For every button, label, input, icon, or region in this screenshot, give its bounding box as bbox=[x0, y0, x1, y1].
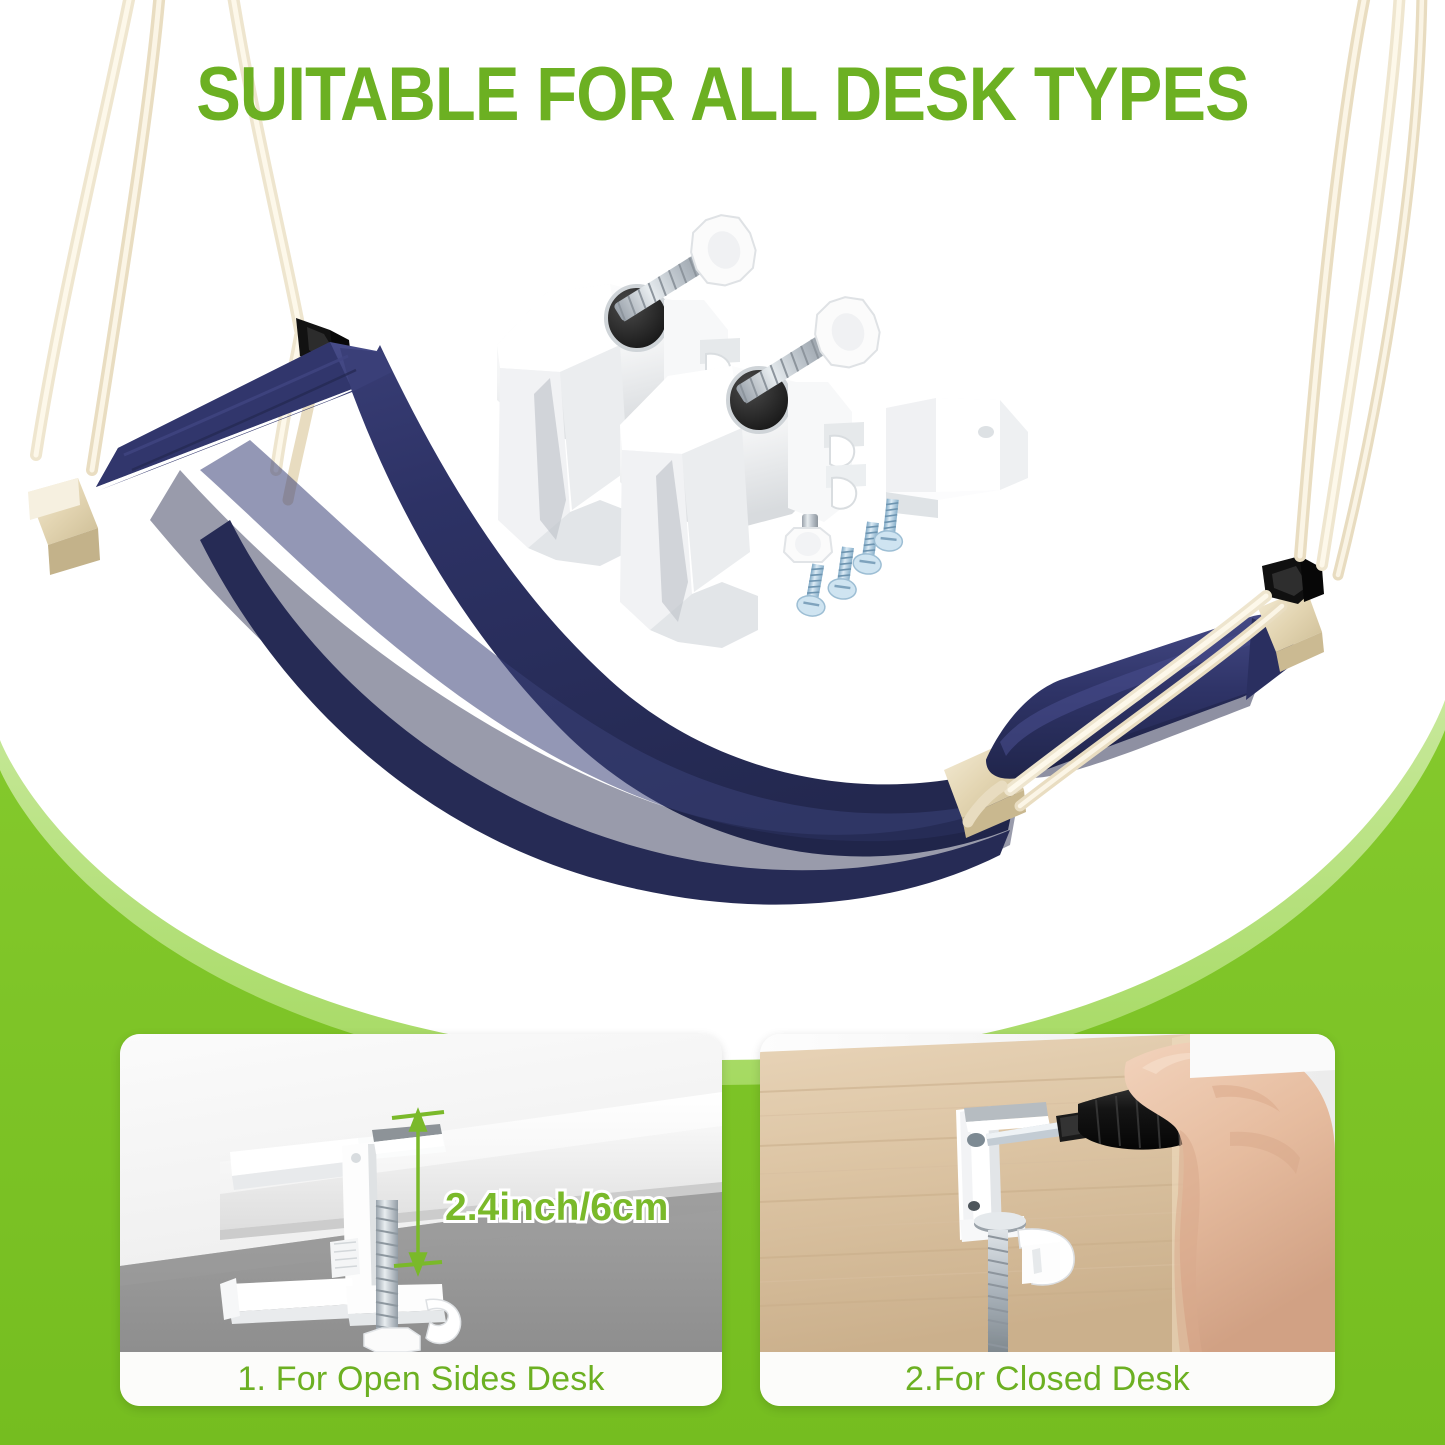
measurement-label: 2.4inch/6cm bbox=[445, 1186, 668, 1230]
closed-desk-scene bbox=[760, 1034, 1335, 1352]
panel-open-sides-desk: 2.4inch/6cm 1. For Open Sides Desk bbox=[120, 1034, 722, 1406]
panel-2-caption: 2.For Closed Desk bbox=[760, 1352, 1335, 1406]
panel-1-caption: 1. For Open Sides Desk bbox=[120, 1352, 722, 1406]
panel-closed-desk: 2.For Closed Desk bbox=[760, 1034, 1335, 1406]
photo-open-sides-desk: 2.4inch/6cm bbox=[120, 1034, 722, 1352]
infographic-canvas: SUITABLE FOR ALL DESK TYPES bbox=[0, 0, 1445, 1445]
photo-closed-desk bbox=[760, 1034, 1335, 1352]
